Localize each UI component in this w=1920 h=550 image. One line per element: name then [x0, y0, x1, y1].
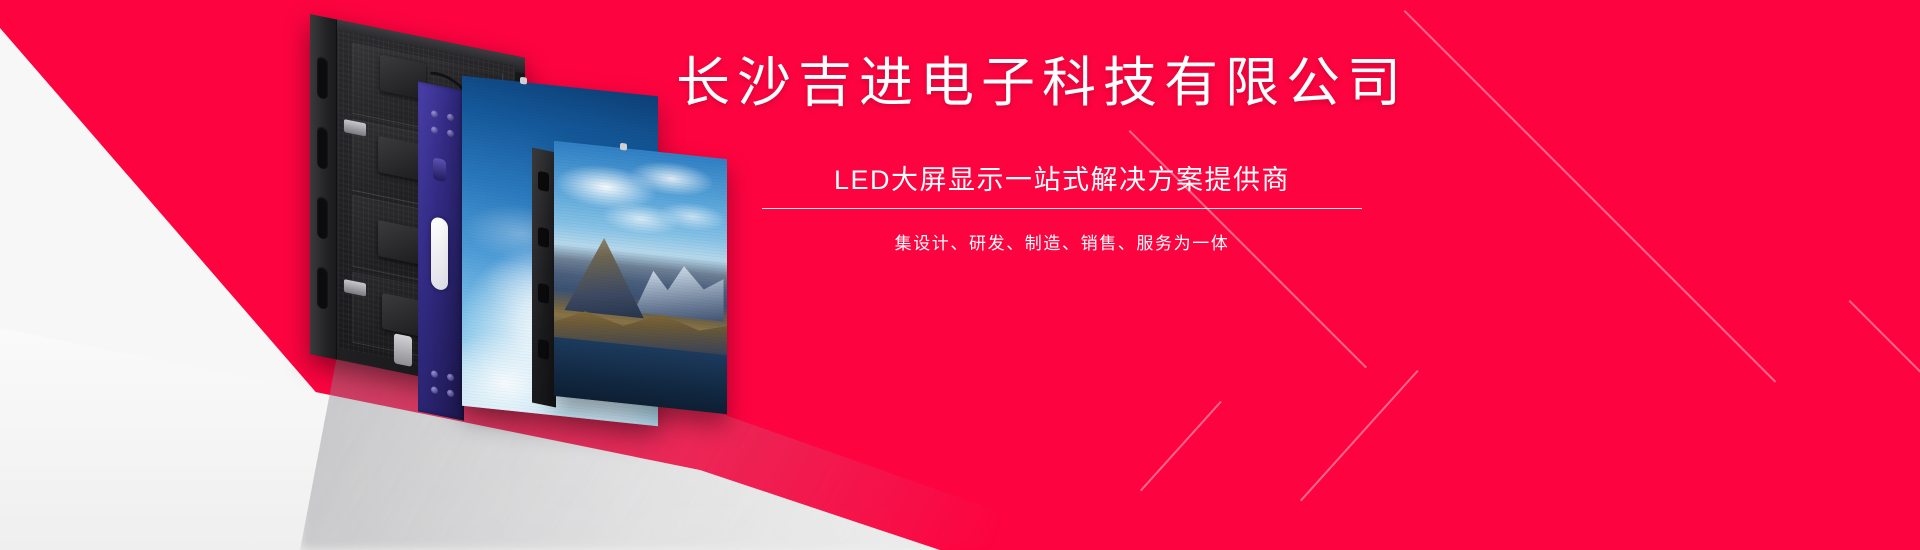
banner-copy: 长沙吉进电子科技有限公司 LED大屏显示一站式解决方案提供商 集设计、研发、制造…	[676, 52, 1796, 254]
frame-lock-icon	[433, 157, 446, 182]
banner-subtitle: LED大屏显示一站式解决方案提供商	[762, 158, 1362, 208]
led-company-banner: 长沙吉进电子科技有限公司 LED大屏显示一站式解决方案提供商 集设计、研发、制造…	[0, 0, 1920, 550]
frame-handle	[431, 216, 448, 291]
subtitle-divider	[762, 208, 1362, 209]
black-frame-side	[532, 148, 556, 408]
cabinet-power-connector	[394, 333, 412, 367]
cabinet-left-rail	[310, 14, 337, 359]
blue-frame-side	[418, 81, 464, 420]
company-name-heading: 长沙吉进电子科技有限公司	[676, 52, 1796, 116]
banner-tagline: 集设计、研发、制造、销售、服务为一体	[762, 229, 1362, 254]
subtitle-block: LED大屏显示一站式解决方案提供商 集设计、研发、制造、销售、服务为一体	[762, 158, 1362, 254]
